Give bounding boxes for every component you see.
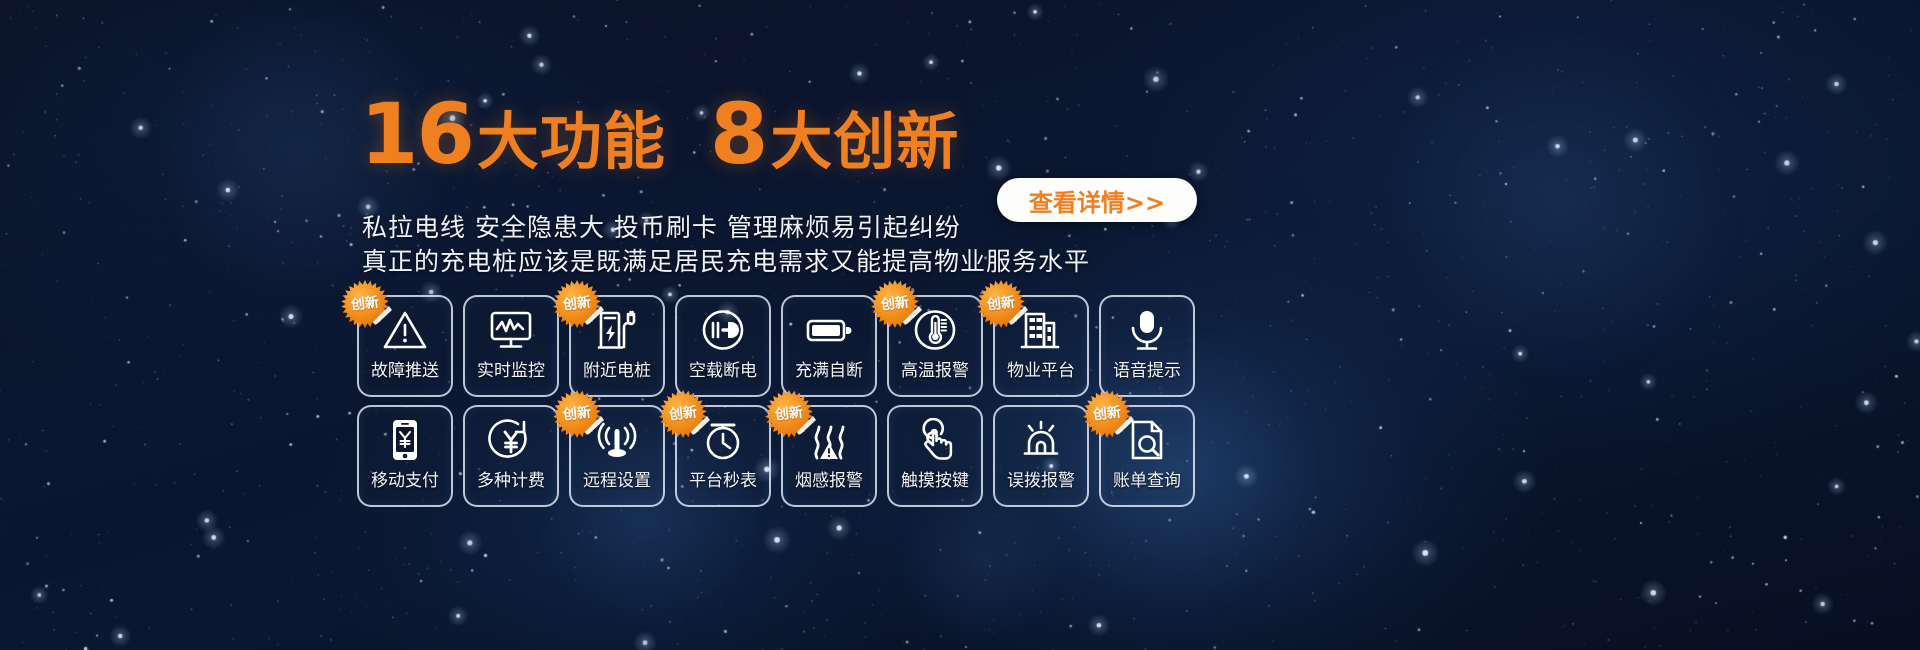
feature-card[interactable]: 创新烟感报警 <box>781 405 877 507</box>
headline-word-two: 大创新 <box>770 111 959 173</box>
touch-hand-icon <box>889 409 981 471</box>
feature-card[interactable]: 创新物业平台 <box>993 295 1089 397</box>
innovation-badge: 创新 <box>976 279 1026 329</box>
feature-card[interactable]: 创新平台秒表 <box>675 405 771 507</box>
innovation-badge: 创新 <box>1082 389 1132 439</box>
feature-card-label: 多种计费 <box>477 471 545 491</box>
feature-card[interactable]: 多种计费 <box>463 405 559 507</box>
feature-card[interactable]: 空载断电 <box>675 295 771 397</box>
view-details-label: 查看详情>> <box>1029 183 1165 218</box>
ribbon-icon <box>583 413 605 440</box>
feature-row-2: 移动支付多种计费创新远程设置创新平台秒表创新烟感报警触摸按键误拨报警创新账单查询 <box>357 405 1195 507</box>
feature-card[interactable]: 误拨报警 <box>993 405 1089 507</box>
promo-banner: 16 大功能 8 大创新 私拉电线 安全隐患大 投币刷卡 管理麻烦易引起纠纷 真… <box>0 0 1920 650</box>
subtitle-line-1: 私拉电线 安全隐患大 投币刷卡 管理麻烦易引起纠纷 <box>362 208 961 244</box>
feature-card-label: 远程设置 <box>583 471 651 491</box>
ribbon-icon <box>1007 303 1029 330</box>
feature-card-label: 空载断电 <box>689 361 757 381</box>
feature-card[interactable]: 创新远程设置 <box>569 405 665 507</box>
yuan-circle-icon <box>465 409 557 471</box>
feature-card[interactable]: 充满自断 <box>781 295 877 397</box>
headline-word-one: 大功能 <box>477 111 666 173</box>
ribbon-icon <box>901 303 923 330</box>
ribbon-icon <box>583 303 605 330</box>
feature-card-label: 实时监控 <box>477 361 545 381</box>
feature-row-1: 创新故障推送实时监控创新附近电桩空载断电充满自断创新高温报警创新物业平台语音提示 <box>357 295 1195 397</box>
ribbon-icon <box>1113 413 1135 440</box>
siren-icon <box>995 409 1087 471</box>
innovation-badge: 创新 <box>870 279 920 329</box>
feature-grid: 创新故障推送实时监控创新附近电桩空载断电充满自断创新高温报警创新物业平台语音提示… <box>357 295 1195 515</box>
feature-card-label: 平台秒表 <box>689 471 757 491</box>
innovation-badge: 创新 <box>340 279 390 329</box>
headline-number-one: 16 <box>360 92 473 176</box>
feature-card[interactable]: 创新故障推送 <box>357 295 453 397</box>
innovation-badge: 创新 <box>552 389 602 439</box>
feature-card-label: 触摸按键 <box>901 471 969 491</box>
phone-yuan-icon <box>359 409 451 471</box>
headline: 16 大功能 8 大创新 <box>360 92 959 176</box>
feature-card-label: 账单查询 <box>1113 471 1181 491</box>
feature-card-label: 移动支付 <box>371 471 439 491</box>
innovation-badge: 创新 <box>552 279 602 329</box>
feature-card-label: 物业平台 <box>1007 361 1075 381</box>
feature-card-label: 高温报警 <box>901 361 969 381</box>
feature-card-label: 充满自断 <box>795 361 863 381</box>
feature-card-label: 故障推送 <box>371 361 439 381</box>
view-details-button[interactable]: 查看详情>> <box>997 178 1197 222</box>
feature-card[interactable]: 移动支付 <box>357 405 453 507</box>
feature-card-label: 烟感报警 <box>795 471 863 491</box>
monitor-waveform-icon <box>465 299 557 361</box>
feature-card[interactable]: 触摸按键 <box>887 405 983 507</box>
feature-card-label: 附近电桩 <box>583 361 651 381</box>
microphone-icon <box>1101 299 1193 361</box>
plug-disconnect-icon <box>677 299 769 361</box>
innovation-badge: 创新 <box>658 389 708 439</box>
subtitle-line-2: 真正的充电桩应该是既满足居民充电需求又能提高物业服务水平 <box>362 242 1090 278</box>
feature-card[interactable]: 创新高温报警 <box>887 295 983 397</box>
feature-card[interactable]: 创新账单查询 <box>1099 405 1195 507</box>
ribbon-icon <box>795 413 817 440</box>
headline-number-two: 8 <box>710 92 766 176</box>
feature-card-label: 语音提示 <box>1113 361 1181 381</box>
ribbon-icon <box>371 303 393 330</box>
feature-card-label: 误拨报警 <box>1007 471 1075 491</box>
feature-card[interactable]: 创新附近电桩 <box>569 295 665 397</box>
ribbon-icon <box>689 413 711 440</box>
feature-card[interactable]: 实时监控 <box>463 295 559 397</box>
battery-full-icon <box>783 299 875 361</box>
feature-card[interactable]: 语音提示 <box>1099 295 1195 397</box>
innovation-badge: 创新 <box>764 389 814 439</box>
